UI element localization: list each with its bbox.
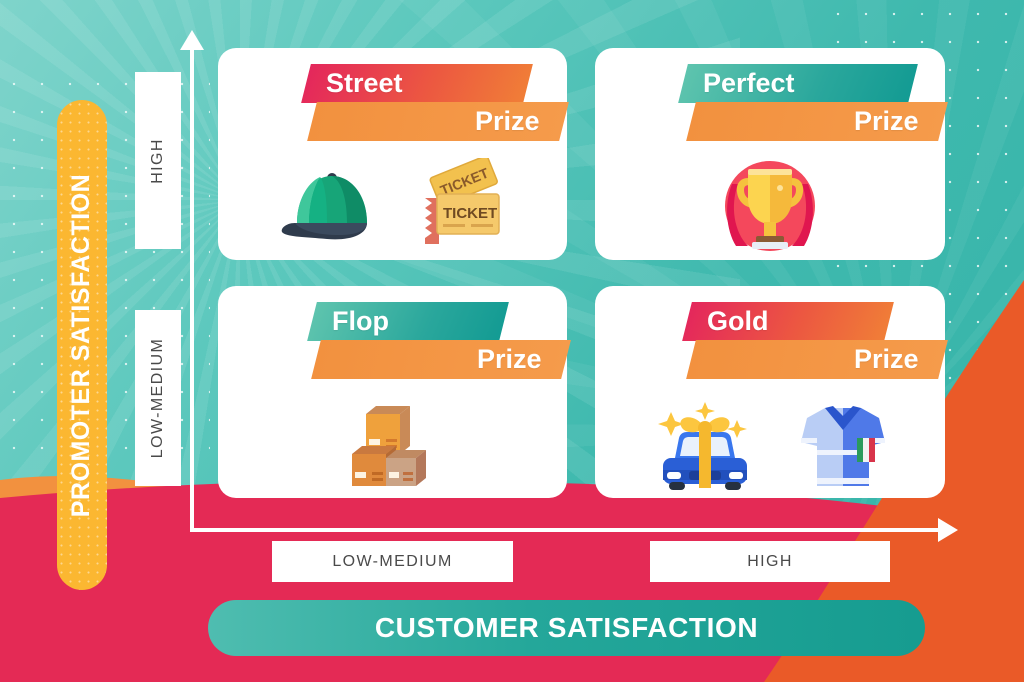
x-axis-title-pill: CUSTOMER SATISFACTION — [208, 600, 925, 656]
y-axis-tick-high-label: HIGH — [149, 138, 167, 184]
matrix-infographic: HIGH LOW-MEDIUM LOW-MEDIUM HIGH PROMOTER… — [0, 0, 1024, 682]
perfect-prize-line2: Prize — [854, 106, 919, 137]
street-prize-ribbon: Street Prize — [218, 64, 567, 148]
perfect-prize-ribbon-top: Perfect — [678, 64, 918, 103]
x-axis-arrowhead-icon — [938, 518, 958, 542]
y-axis-title-pill: PROMOTER SATISFACTION — [57, 100, 107, 590]
x-axis-tick-high-label: HIGH — [747, 553, 793, 571]
flop-prize-line2: Prize — [477, 344, 542, 375]
flop-prize-ribbon-bottom: Prize — [311, 340, 571, 379]
quadrant-card-perfect-prize[interactable]: Perfect Prize — [595, 48, 945, 260]
y-axis-tick-low-medium-label: LOW-MEDIUM — [149, 338, 167, 458]
x-axis-tick-low-medium: LOW-MEDIUM — [272, 541, 513, 582]
perfect-prize-ribbon-bottom: Prize — [686, 102, 948, 141]
x-axis-tick-high: HIGH — [650, 541, 890, 582]
street-prize-ribbon-top: Street — [301, 64, 533, 103]
flop-prize-ribbon: Flop Prize — [218, 302, 567, 386]
y-axis-tick-high: HIGH — [135, 72, 181, 249]
perfect-prize-illustration — [595, 152, 945, 260]
perfect-prize-line1: Perfect — [703, 68, 795, 99]
quadrant-card-gold-prize[interactable]: Gold Prize — [595, 286, 945, 498]
gift-car-icon — [649, 394, 761, 494]
street-prize-line2: Prize — [475, 106, 540, 137]
cap-icon — [275, 161, 385, 251]
street-prize-line1: Street — [326, 68, 403, 99]
street-prize-ribbon-bottom: Prize — [307, 102, 569, 141]
trophy-icon — [718, 154, 822, 258]
flop-prize-line1: Flop — [332, 306, 389, 337]
quadrant-card-flop-prize[interactable]: Flop Prize — [218, 286, 567, 498]
y-axis-tick-low-medium: LOW-MEDIUM — [135, 310, 181, 486]
gold-prize-line1: Gold — [707, 306, 769, 337]
quadrant-card-street-prize[interactable]: Street Prize TICKET — [218, 48, 567, 260]
gold-prize-line2: Prize — [854, 344, 919, 375]
x-axis-tick-low-medium-label: LOW-MEDIUM — [332, 553, 452, 571]
tickets-icon: TICKET TICKET — [411, 158, 511, 254]
jersey-icon — [795, 394, 891, 494]
flop-prize-illustration — [218, 390, 567, 498]
street-prize-illustration: TICKET TICKET — [218, 152, 567, 260]
gold-prize-ribbon-bottom: Prize — [686, 340, 948, 379]
perfect-prize-ribbon: Perfect Prize — [595, 64, 945, 148]
ticket-front-label: TICKET — [443, 205, 497, 222]
gold-prize-ribbon: Gold Prize — [595, 302, 945, 386]
gold-prize-illustration — [595, 390, 945, 498]
y-axis-arrowhead-icon — [180, 30, 204, 50]
x-axis-line — [190, 528, 950, 532]
y-axis-title: PROMOTER SATISFACTION — [68, 173, 97, 516]
x-axis-title: CUSTOMER SATISFACTION — [375, 612, 758, 644]
flop-prize-ribbon-top: Flop — [307, 302, 509, 341]
boxes-icon — [338, 394, 448, 494]
gold-prize-ribbon-top: Gold — [682, 302, 894, 341]
y-axis-line — [190, 44, 194, 532]
